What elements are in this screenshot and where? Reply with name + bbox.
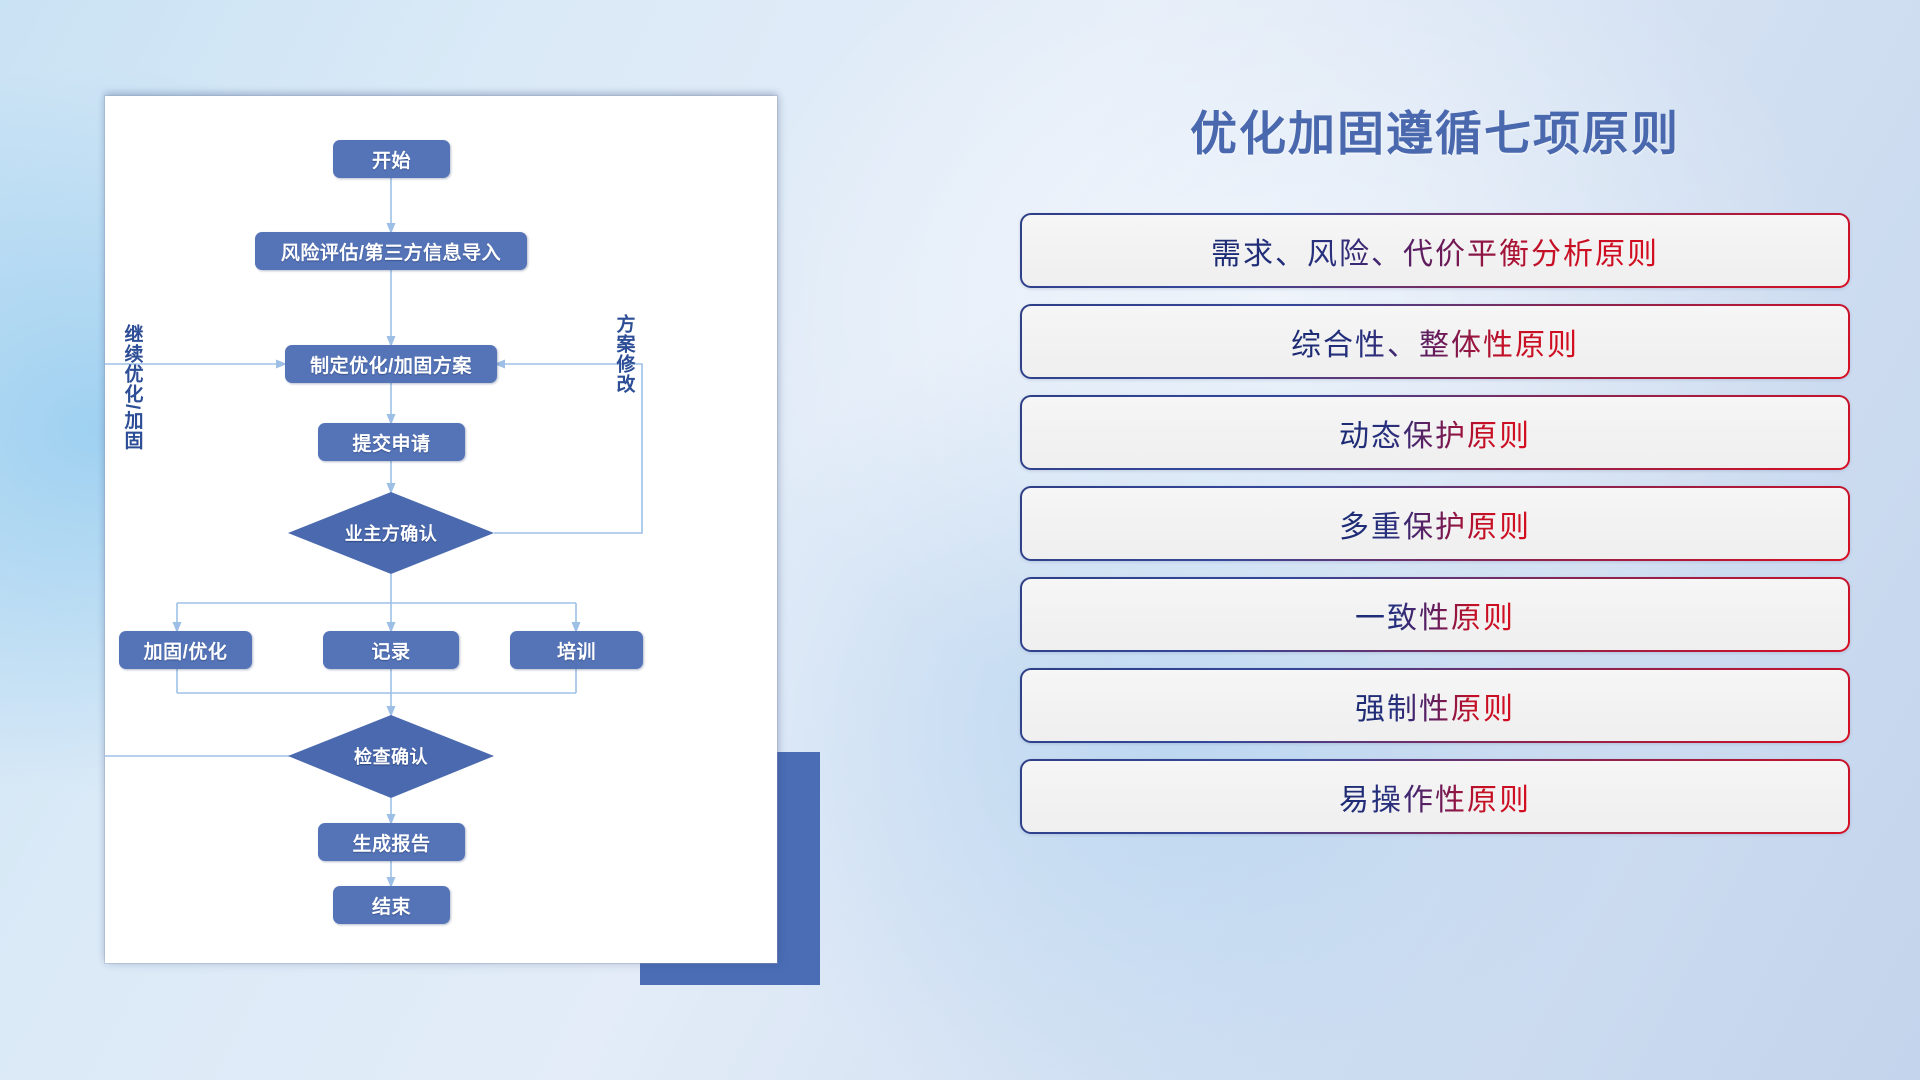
flow-node-make-plan[interactable]: 制定优化/加固方案: [285, 345, 497, 383]
edge-label-plan-revision: 方案修改: [613, 314, 634, 394]
slide-canvas: 开始 风险评估/第三方信息导入 制定优化/加固方案 提交申请 业主方确认 加固/…: [0, 0, 1920, 1080]
principle-label: 多重保护原则: [1339, 502, 1531, 546]
principle-item-5[interactable]: 一致性原则: [1020, 577, 1850, 652]
flow-node-risk-assessment[interactable]: 风险评估/第三方信息导入: [255, 232, 527, 270]
principle-label: 易操作性原则: [1339, 775, 1531, 819]
principle-label: 动态保护原则: [1339, 411, 1531, 455]
principle-item-3[interactable]: 动态保护原则: [1020, 395, 1850, 470]
decision-owner-confirm-label: 业主方确认: [288, 514, 494, 552]
flow-node-start[interactable]: 开始: [333, 140, 450, 178]
flow-node-generate-report[interactable]: 生成报告: [318, 823, 465, 861]
flow-node-training[interactable]: 培训: [510, 631, 643, 669]
principle-item-7[interactable]: 易操作性原则: [1020, 759, 1850, 834]
principle-label: 综合性、整体性原则: [1291, 320, 1579, 364]
edge-label-continue-optimize: 继续优化/加固: [121, 324, 142, 450]
flow-node-end[interactable]: 结束: [333, 886, 450, 924]
principle-label: 强制性原则: [1355, 684, 1515, 728]
principle-label: 一致性原则: [1355, 593, 1515, 637]
principles-list: 需求、风险、代价平衡分析原则 综合性、整体性原则 动态保护原则 多重保护原则 一…: [1020, 213, 1850, 850]
principle-item-2[interactable]: 综合性、整体性原则: [1020, 304, 1850, 379]
flow-node-record[interactable]: 记录: [323, 631, 459, 669]
principles-panel: 优化加固遵循七项原则 需求、风险、代价平衡分析原则 综合性、整体性原则 动态保护…: [1020, 95, 1850, 995]
principle-label: 需求、风险、代价平衡分析原则: [1211, 229, 1659, 273]
principle-item-6[interactable]: 强制性原则: [1020, 668, 1850, 743]
principle-item-4[interactable]: 多重保护原则: [1020, 486, 1850, 561]
flow-node-reinforce-optimize[interactable]: 加固/优化: [119, 631, 252, 669]
panel-title: 优化加固遵循七项原则: [1020, 95, 1850, 164]
flowchart-card: 开始 风险评估/第三方信息导入 制定优化/加固方案 提交申请 业主方确认 加固/…: [105, 96, 777, 963]
flow-node-submit-application[interactable]: 提交申请: [318, 423, 465, 461]
decision-final-check-label: 检查确认: [288, 737, 494, 775]
principle-item-1[interactable]: 需求、风险、代价平衡分析原则: [1020, 213, 1850, 288]
